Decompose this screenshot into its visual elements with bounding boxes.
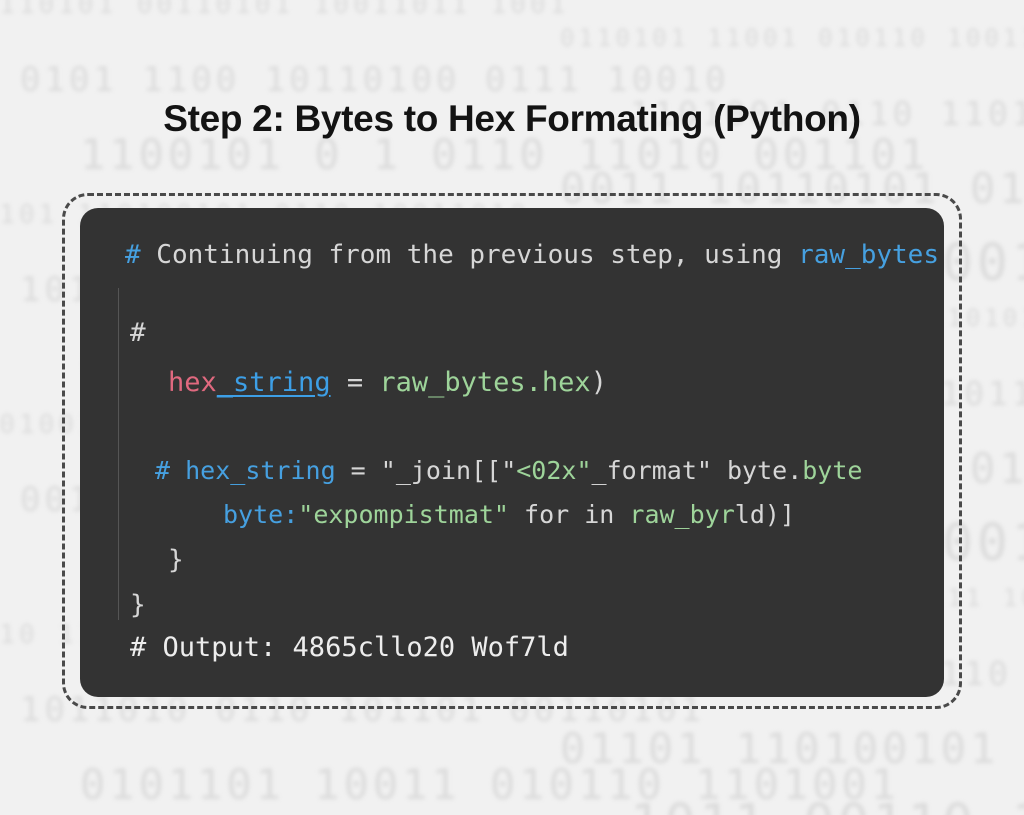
code-token: = (336, 456, 381, 485)
code-token: ) (591, 367, 607, 398)
code-block: # Continuing from the previous step, usi… (80, 208, 944, 697)
code-token: "_join[[" (381, 456, 516, 485)
code-line-brace-inner: } (168, 545, 184, 575)
code-line-comment-intro: # Continuing from the previous step, usi… (125, 240, 939, 270)
code-card: # Continuing from the previous step, usi… (80, 208, 944, 697)
code-token: # (155, 456, 185, 485)
code-token: hex (168, 367, 217, 398)
code-token: # (125, 240, 141, 270)
code-token: } (168, 545, 184, 575)
code-line-output: # Output: 4865cllo20 Wof7ld (130, 633, 569, 663)
code-token: raw_byr (629, 500, 734, 529)
code-token: hex_string (185, 456, 336, 485)
code-token: _string (217, 367, 331, 398)
code-token: <02x" (516, 456, 591, 485)
code-token: Continuing from the previous step, using (141, 240, 798, 270)
code-token: raw_bytes (798, 240, 939, 270)
code-line-forin: byte:"expompistmat" for in raw_byrld)] (223, 500, 795, 530)
code-token: for in (509, 500, 629, 529)
code-line-assign: hex_string = raw_bytes.hex) (168, 368, 607, 398)
code-token: # Output: 4865cllo20 Wof7ld (130, 632, 569, 663)
code-line-brace-outer: } (130, 590, 146, 620)
code-line-join: # hex_string = "_join[["<02x"_format" by… (155, 456, 862, 486)
code-token: byte (802, 456, 862, 485)
code-token: "expompistmat" (298, 500, 509, 529)
code-token: byte: (223, 500, 298, 529)
code-token: _format" (592, 456, 712, 485)
code-token: raw_bytes.hex (379, 367, 590, 398)
code-line-hash: # (130, 318, 146, 348)
code-token: byte. (712, 456, 802, 485)
page-title: Step 2: Bytes to Hex Formating (Python) (0, 98, 1024, 140)
code-token: # (130, 318, 146, 348)
slide-page: Step 2: Bytes to Hex Formating (Python) … (0, 0, 1024, 815)
code-token: } (130, 590, 146, 620)
code-token: ld)] (735, 500, 795, 529)
code-token: = (331, 367, 380, 398)
